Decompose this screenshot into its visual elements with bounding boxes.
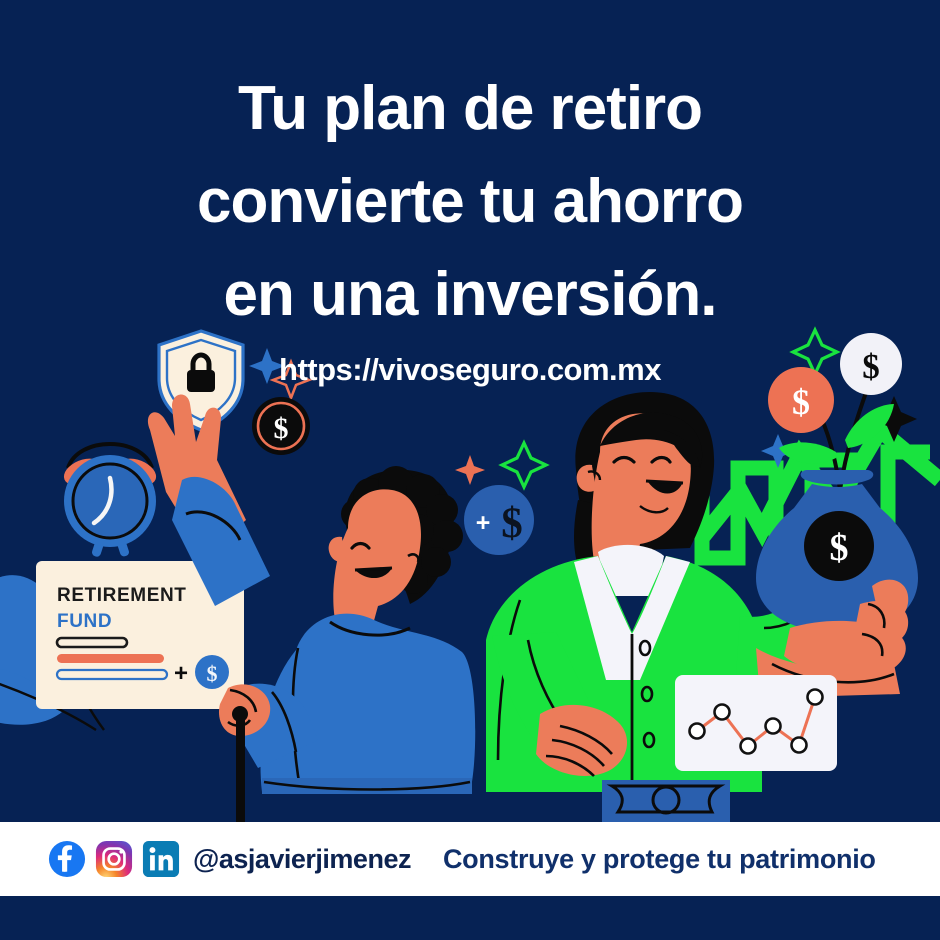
- banknote: [602, 780, 730, 822]
- svg-text:$: $: [792, 382, 810, 422]
- illustration: RETIREMENT FUND + $: [0, 0, 940, 822]
- instagram-icon[interactable]: [95, 840, 133, 878]
- chart-point: [766, 719, 781, 734]
- poster-canvas: RETIREMENT FUND + $: [0, 0, 940, 940]
- svg-text:$: $: [830, 527, 849, 569]
- line-chart-card: [675, 675, 837, 771]
- svg-text:$: $: [501, 500, 523, 547]
- cane: [236, 716, 245, 822]
- svg-text:+: +: [476, 509, 491, 537]
- chart-point: [792, 738, 807, 753]
- footer-bar: @asjavierjimenez Construye y protege tu …: [0, 822, 940, 896]
- card-plus-sign: +: [174, 660, 188, 687]
- social-icon-group: [48, 840, 180, 878]
- website-url[interactable]: https://vivoseguro.com.mx: [0, 352, 940, 388]
- chart-point: [741, 739, 756, 754]
- bottom-navy-bar: [0, 896, 940, 940]
- linkedin-icon[interactable]: [142, 840, 180, 878]
- footer-tagline: Construye y protege tu patrimonio: [443, 844, 876, 875]
- chart-point: [715, 705, 730, 720]
- social-handle[interactable]: @asjavierjimenez: [193, 844, 411, 875]
- coin-blue-plus: + $: [464, 485, 534, 555]
- coin-black-orange: $: [252, 397, 310, 455]
- chart-point: [690, 724, 705, 739]
- svg-text:$: $: [274, 412, 289, 445]
- facebook-icon[interactable]: [48, 840, 86, 878]
- svg-text:$: $: [207, 661, 218, 686]
- chart-point: [808, 690, 823, 705]
- card-title-bottom: FUND: [57, 611, 112, 632]
- card-title-top: RETIREMENT: [57, 585, 187, 606]
